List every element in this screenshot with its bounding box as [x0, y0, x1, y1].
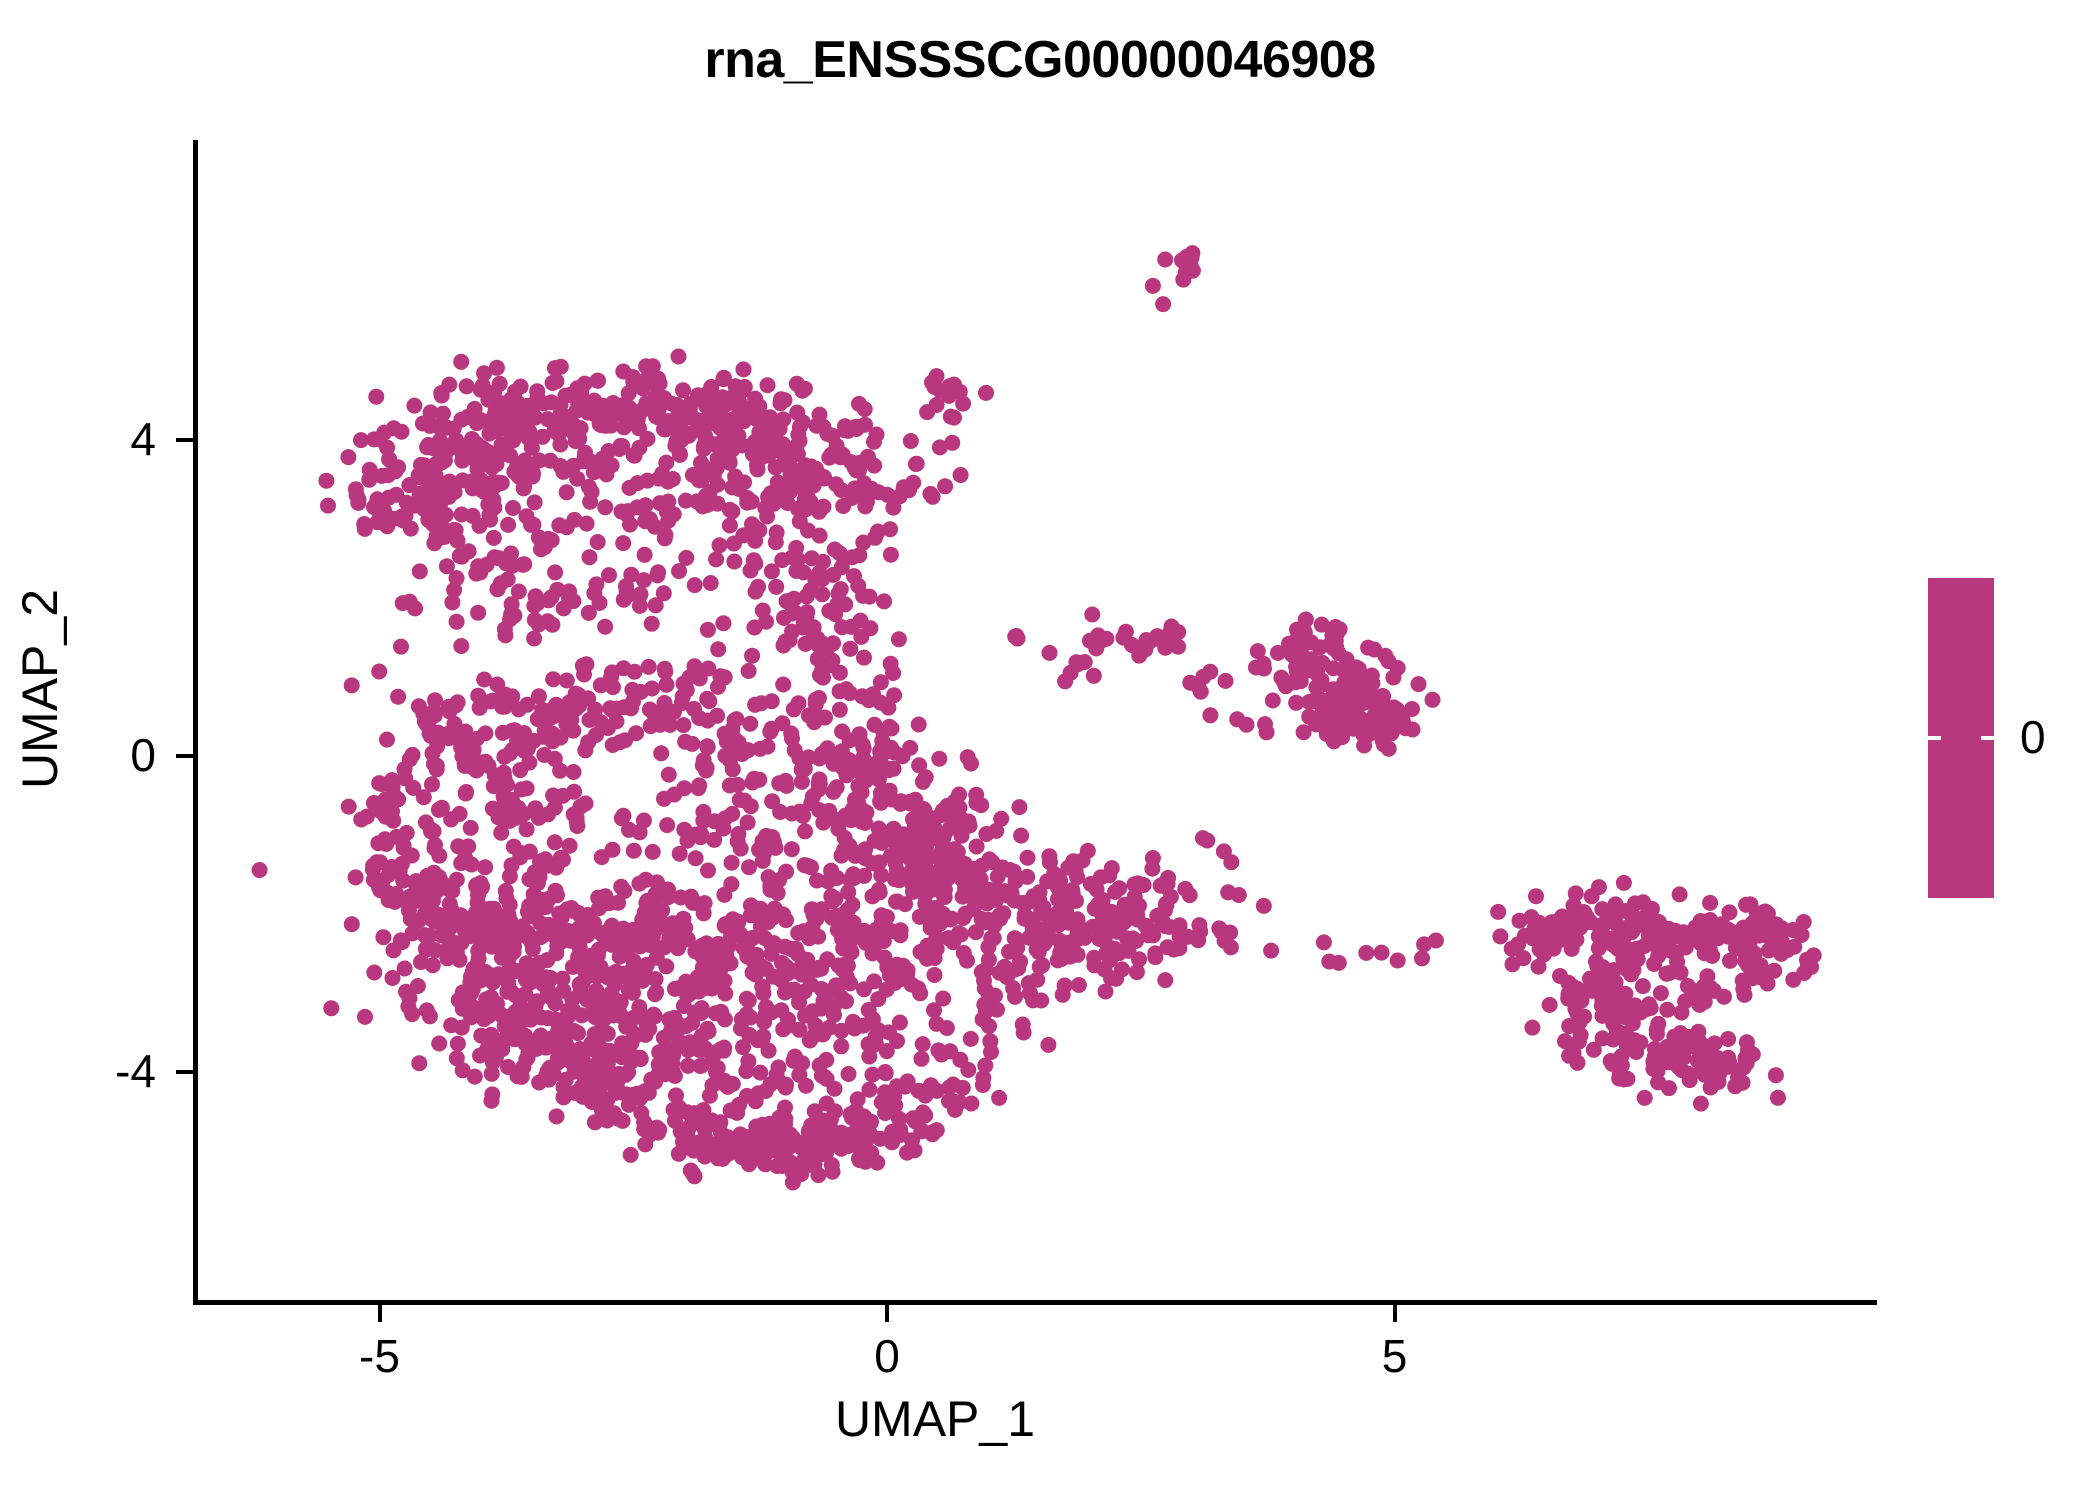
scatter-point — [487, 767, 503, 783]
scatter-point — [1667, 963, 1683, 979]
scatter-point — [879, 1043, 895, 1059]
scatter-point — [724, 479, 740, 495]
scatter-point — [911, 757, 927, 773]
scatter-point — [1313, 678, 1329, 694]
scatter-point — [802, 1033, 818, 1049]
scatter-point — [395, 595, 411, 611]
scatter-point — [348, 869, 364, 885]
scatter-point — [506, 402, 522, 418]
scatter-point — [858, 1145, 874, 1161]
scatter-point — [952, 1052, 968, 1068]
scatter-point — [742, 716, 758, 732]
scatter-point — [341, 799, 357, 815]
scatter-point — [1106, 945, 1122, 961]
scatter-point — [1086, 950, 1102, 966]
scatter-point — [449, 614, 465, 630]
scatter-point — [535, 429, 551, 445]
scatter-point — [810, 651, 826, 667]
scatter-point — [1739, 1055, 1755, 1071]
scatter-point — [420, 512, 436, 528]
scatter-point — [419, 1002, 435, 1018]
scatter-point — [537, 723, 553, 739]
scatter-point — [517, 986, 533, 1002]
scatter-point — [1348, 712, 1364, 728]
scatter-point — [926, 904, 942, 920]
scatter-point — [885, 665, 901, 681]
scatter-point — [499, 984, 515, 1000]
y-axis-line — [193, 140, 198, 1305]
x-tick-mark — [885, 1305, 889, 1322]
scatter-point — [834, 961, 850, 977]
scatter-point — [500, 517, 516, 533]
scatter-point — [1012, 954, 1028, 970]
scatter-point — [433, 455, 449, 471]
scatter-point — [366, 795, 382, 811]
scatter-point — [1616, 875, 1632, 891]
scatter-point — [721, 955, 737, 971]
scatter-point — [521, 755, 537, 771]
scatter-point — [543, 394, 559, 410]
scatter-point — [796, 564, 812, 580]
scatter-point — [1102, 907, 1118, 923]
x-tick-label: -5 — [320, 1333, 440, 1379]
scatter-point — [1768, 1067, 1784, 1083]
scatter-point — [1290, 669, 1306, 685]
scatter-point — [836, 939, 852, 955]
scatter-point — [787, 604, 803, 620]
scatter-point — [694, 1000, 710, 1016]
scatter-point — [701, 1023, 717, 1039]
scatter-point — [450, 838, 466, 854]
scatter-point — [493, 825, 509, 841]
scatter-point — [411, 467, 427, 483]
scatter-point — [1158, 896, 1174, 912]
scatter-point — [340, 449, 356, 465]
scatter-point — [778, 912, 794, 928]
scatter-point — [544, 617, 560, 633]
scatter-point — [509, 734, 525, 750]
scatter-point — [857, 815, 873, 831]
scatter-point — [891, 872, 907, 888]
scatter-point — [745, 965, 761, 981]
scatter-point — [487, 970, 503, 986]
scatter-point — [775, 677, 791, 693]
scatter-point — [553, 458, 569, 474]
scatter-point — [376, 425, 392, 441]
scatter-point — [1492, 928, 1508, 944]
scatter-point — [1218, 673, 1234, 689]
scatter-point — [431, 1036, 447, 1052]
scatter-point — [866, 458, 882, 474]
scatter-point — [795, 953, 811, 969]
scatter-point — [693, 390, 709, 406]
scatter-point — [787, 742, 803, 758]
scatter-point — [1720, 1050, 1736, 1066]
scatter-point — [703, 575, 719, 591]
scatter-point — [1757, 904, 1773, 920]
scatter-point — [370, 835, 386, 851]
scatter-point — [424, 776, 440, 792]
scatter-point — [569, 810, 585, 826]
scatter-point — [426, 865, 442, 881]
scatter-point — [452, 806, 468, 822]
scatter-point — [811, 772, 827, 788]
plot-panel — [195, 140, 1875, 1302]
scatter-point — [387, 789, 403, 805]
scatter-point — [455, 984, 471, 1000]
scatter-point — [381, 451, 397, 467]
scatter-point — [805, 788, 821, 804]
scatter-point — [545, 991, 561, 1007]
scatter-point — [943, 409, 959, 425]
scatter-point — [484, 1086, 500, 1102]
scatter-point — [594, 849, 610, 865]
scatter-point — [543, 924, 559, 940]
scatter-point — [475, 378, 491, 394]
scatter-point — [631, 407, 647, 423]
scatter-point — [915, 1036, 931, 1052]
scatter-point — [604, 664, 620, 680]
scatter-point — [1170, 624, 1186, 640]
x-tick-label: 5 — [1335, 1333, 1455, 1379]
scatter-point — [717, 1011, 733, 1027]
scatter-point — [504, 596, 520, 612]
scatter-point — [810, 929, 826, 945]
scatter-point — [733, 841, 749, 857]
scatter-point — [597, 619, 613, 635]
scatter-point — [1084, 607, 1100, 623]
scatter-point — [881, 762, 897, 778]
scatter-point — [458, 786, 474, 802]
scatter-point — [890, 894, 906, 910]
scatter-point — [896, 479, 912, 495]
scatter-point — [632, 824, 648, 840]
scatter-point — [1195, 830, 1211, 846]
scatter-point — [1036, 899, 1052, 915]
scatter-point — [469, 1006, 485, 1022]
scatter-point — [494, 475, 510, 491]
scatter-point — [730, 914, 746, 930]
scatter-point — [379, 518, 395, 534]
scatter-point — [671, 1146, 687, 1162]
scatter-point — [1131, 951, 1147, 967]
scatter-point — [557, 1034, 573, 1050]
scatter-point — [755, 603, 771, 619]
scatter-point — [453, 354, 469, 370]
scatter-point — [252, 862, 268, 878]
scatter-point — [955, 910, 971, 926]
scatter-point — [1505, 956, 1521, 972]
scatter-point — [1619, 962, 1635, 978]
scatter-point — [1114, 961, 1130, 977]
scatter-point — [467, 1069, 483, 1085]
scatter-point — [460, 409, 476, 425]
scatter-point — [1098, 984, 1114, 1000]
scatter-point — [914, 1051, 930, 1067]
scatter-point — [498, 919, 514, 935]
scatter-point — [708, 391, 724, 407]
scatter-point — [1649, 1026, 1665, 1042]
scatter-point — [883, 547, 899, 563]
scatter-point — [641, 659, 657, 675]
scatter-point — [525, 941, 541, 957]
scatter-point — [1785, 922, 1801, 938]
x-axis-title: UMAP_1 — [700, 1390, 1170, 1448]
scatter-point — [811, 1129, 827, 1145]
scatter-point — [767, 901, 783, 917]
scatter-point — [582, 494, 598, 510]
scatter-point — [986, 930, 1002, 946]
scatter-point — [1643, 1000, 1659, 1016]
scatter-point — [520, 422, 536, 438]
scatter-point — [429, 738, 445, 754]
scatter-point — [1680, 978, 1696, 994]
scatter-point — [710, 1060, 726, 1076]
scatter-point — [556, 1021, 572, 1037]
scatter-point — [827, 1081, 843, 1097]
scatter-point — [889, 957, 905, 973]
scatter-point — [537, 851, 553, 867]
scatter-point — [1136, 877, 1152, 893]
scatter-point — [843, 454, 859, 470]
scatter-point — [443, 901, 459, 917]
scatter-point — [1304, 693, 1320, 709]
scatter-point — [464, 857, 480, 873]
colorbar-tick-right — [1981, 736, 1994, 740]
scatter-point — [402, 990, 418, 1006]
scatter-point — [549, 1108, 565, 1124]
scatter-point — [393, 932, 409, 948]
scatter-point — [444, 728, 460, 744]
scatter-point — [396, 840, 412, 856]
scatter-point — [1595, 1030, 1611, 1046]
scatter-point — [875, 723, 891, 739]
scatter-point — [680, 833, 696, 849]
scatter-point — [706, 832, 722, 848]
scatter-point — [695, 813, 711, 829]
scatter-point — [883, 740, 899, 756]
scatter-point — [1557, 1033, 1573, 1049]
scatter-point — [1020, 850, 1036, 866]
scatter-point — [821, 1020, 837, 1036]
scatter-point — [683, 889, 699, 905]
scatter-point — [797, 761, 813, 777]
scatter-point — [603, 995, 619, 1011]
scatter-point — [856, 868, 872, 884]
scatter-point — [937, 478, 953, 494]
scatter-point — [500, 572, 516, 588]
scatter-point — [764, 721, 780, 737]
scatter-point — [1004, 885, 1020, 901]
scatter-point — [1591, 879, 1607, 895]
scatter-point — [385, 970, 401, 986]
scatter-point — [493, 933, 509, 949]
scatter-point — [717, 748, 733, 764]
scatter-point — [1673, 1037, 1689, 1053]
scatter-point — [478, 754, 494, 770]
scatter-point — [404, 1006, 420, 1022]
scatter-point — [782, 1154, 798, 1170]
scatter-point — [960, 749, 976, 765]
scatter-point — [1716, 989, 1732, 1005]
scatter-point — [415, 416, 431, 432]
scatter-point — [566, 512, 582, 528]
scatter-point — [746, 620, 762, 636]
scatter-point — [922, 829, 938, 845]
scatter-point — [463, 820, 479, 836]
scatter-point — [1653, 985, 1669, 1001]
scatter-point — [838, 767, 854, 783]
scatter-point — [1692, 1045, 1708, 1061]
scatter-point — [525, 469, 541, 485]
scatter-point — [846, 915, 862, 931]
x-axis-line — [193, 1300, 1877, 1305]
scatter-point — [470, 605, 486, 621]
scatter-point — [472, 1048, 488, 1064]
scatter-point — [833, 1125, 849, 1141]
scatter-point — [1697, 945, 1713, 961]
scatter-point — [547, 360, 563, 376]
scatter-point — [1009, 934, 1025, 950]
scatter-point — [442, 480, 458, 496]
scatter-point — [526, 886, 542, 902]
scatter-point — [497, 621, 513, 637]
scatter-point — [999, 969, 1015, 985]
scatter-point — [559, 673, 575, 689]
scatter-point — [545, 709, 561, 725]
scatter-point — [911, 717, 927, 733]
scatter-point — [739, 1088, 755, 1104]
scatter-point — [1572, 918, 1588, 934]
scatter-point — [1411, 676, 1427, 692]
scatter-point — [734, 746, 750, 762]
scatter-point — [993, 811, 1009, 827]
scatter-point — [917, 1088, 933, 1104]
scatter-point — [359, 809, 375, 825]
scatter-point — [736, 361, 752, 377]
scatter-point — [794, 1055, 810, 1071]
scatter-point — [865, 945, 881, 961]
scatter-point — [733, 1021, 749, 1037]
scatter-point — [1366, 642, 1382, 658]
scatter-point — [1288, 695, 1304, 711]
scatter-point — [712, 537, 728, 553]
scatter-point — [644, 681, 660, 697]
scatter-point — [521, 871, 537, 887]
scatter-point — [1324, 628, 1340, 644]
scatter-point — [857, 401, 873, 417]
scatter-point — [1720, 1031, 1736, 1047]
scatter-point — [357, 1009, 373, 1025]
scatter-point — [577, 963, 593, 979]
scatter-point — [1082, 633, 1098, 649]
scatter-point — [678, 1018, 694, 1034]
scatter-point — [905, 1110, 921, 1126]
scatter-point — [614, 504, 630, 520]
scatter-point — [1273, 670, 1289, 686]
scatter-point — [827, 606, 843, 622]
scatter-point — [814, 571, 830, 587]
scatter-point — [1128, 933, 1144, 949]
scatter-point — [426, 703, 442, 719]
scatter-point — [955, 396, 971, 412]
scatter-point — [597, 499, 613, 515]
scatter-point — [531, 688, 547, 704]
scatter-point — [795, 808, 811, 824]
scatter-point — [648, 597, 664, 613]
scatter-point — [851, 547, 867, 563]
scatter-point — [1385, 717, 1401, 733]
scatter-point — [538, 899, 554, 915]
scatter-point — [1010, 631, 1026, 647]
scatter-point — [516, 806, 532, 822]
scatter-point — [357, 521, 373, 537]
scatter-point — [761, 493, 777, 509]
scatter-point — [381, 867, 397, 883]
scatter-point — [724, 855, 740, 871]
scatter-point — [380, 885, 396, 901]
scatter-point — [1183, 259, 1199, 275]
scatter-point — [597, 888, 613, 904]
scatter-point — [788, 540, 804, 556]
scatter-point — [1593, 920, 1609, 936]
scatter-point — [722, 518, 738, 534]
scatter-point — [1696, 922, 1712, 938]
scatter-point — [675, 382, 691, 398]
scatter-point — [578, 796, 594, 812]
scatter-point — [531, 810, 547, 826]
scatter-point — [687, 943, 703, 959]
scatter-point — [581, 605, 597, 621]
scatter-point — [1050, 891, 1066, 907]
scatter-point — [750, 579, 766, 595]
scatter-point — [870, 1022, 886, 1038]
scatter-point — [773, 1002, 789, 1018]
scatter-point — [632, 598, 648, 614]
scatter-point — [702, 1088, 718, 1104]
scatter-point — [545, 671, 561, 687]
x-tick-mark — [1393, 1305, 1397, 1322]
scatter-point — [636, 572, 652, 588]
scatter-point — [1650, 1074, 1666, 1090]
scatter-point — [1644, 901, 1660, 917]
scatter-point — [1693, 1096, 1709, 1112]
scatter-point — [930, 1042, 946, 1058]
scatter-point — [724, 503, 740, 519]
scatter-point — [919, 404, 935, 420]
scatter-point — [846, 844, 862, 860]
scatter-point — [1744, 970, 1760, 986]
scatter-point — [1193, 684, 1209, 700]
scatter-point — [1751, 928, 1767, 944]
scatter-point — [489, 677, 505, 693]
scatter-point — [659, 817, 675, 833]
scatter-point — [1177, 881, 1193, 897]
scatter-point — [861, 1049, 877, 1065]
scatter-point — [1627, 895, 1643, 911]
scatter-point — [832, 702, 848, 718]
scatter-point — [367, 499, 383, 515]
scatter-point — [968, 795, 984, 811]
scatter-point — [505, 500, 521, 516]
scatter-point — [796, 467, 812, 483]
scatter-point — [441, 377, 457, 393]
scatter-point — [833, 1038, 849, 1054]
scatter-point — [631, 876, 647, 892]
scatter-point — [981, 1018, 997, 1034]
y-tick-mark — [176, 438, 193, 442]
scatter-point — [760, 377, 776, 393]
